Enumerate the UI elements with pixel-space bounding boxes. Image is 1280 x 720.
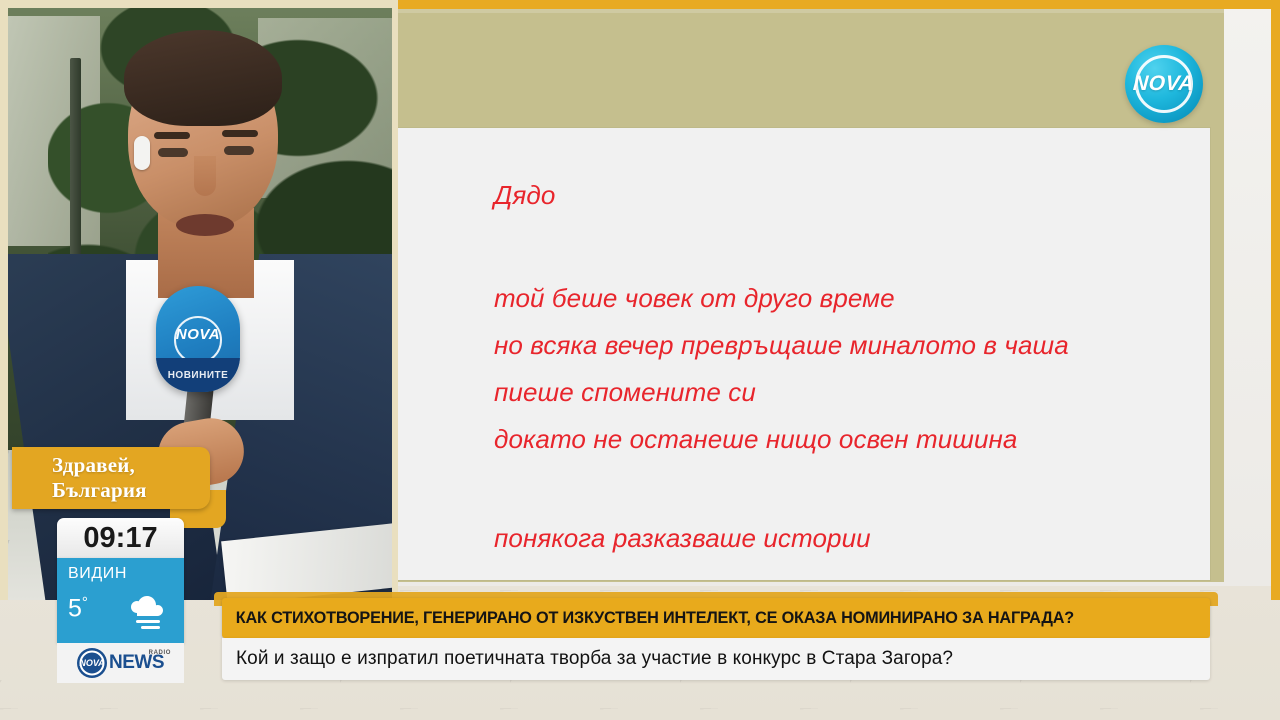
nova-logo-text: NOVA: [1133, 72, 1196, 96]
lower-third: КАК СТИХОТВОРЕНИЕ, ГЕНЕРИРАНО ОТ ИЗКУСТВ…: [214, 592, 1218, 680]
reporter-hair: [124, 30, 282, 126]
lower-third-subline: Кой и защо е изпратил поетичната творба …: [222, 638, 1210, 680]
reporter-earbud: [134, 136, 150, 170]
nova-news-nova-text: NOVA: [79, 658, 104, 668]
nova-circle-logo: NOVA: [1125, 45, 1203, 123]
nova-microphone: NOVA НОВИНИТЕ: [156, 286, 240, 392]
weather-temperature: 5°: [68, 594, 88, 623]
poem-text-block: Дядо той беше човек от друго време но вс…: [494, 172, 1190, 562]
poem-spacer-2: [494, 463, 1190, 515]
reporter-brow-right: [222, 130, 258, 137]
nova-news-circle-icon: NOVA: [77, 648, 107, 678]
broadcast-screen: Дядо той беше човек от друго време но вс…: [0, 0, 1280, 720]
khaki-panel-highlight: [398, 9, 1224, 13]
program-title-line1: Здравей,: [52, 453, 210, 478]
nova-news-radio-logo: NOVA NEWS RADIO: [57, 643, 184, 683]
weather-city-label: ВИДИН: [68, 565, 127, 583]
clock-widget: 09:17: [57, 518, 184, 558]
nova-news-radio-text: RADIO: [149, 650, 171, 656]
microphone-bottom-band: НОВИНИТЕ: [156, 358, 240, 392]
poem-line-3: пиеше спомените си: [494, 369, 1190, 416]
lower-third-subline-text: Кой и защо е изпратил поетичната творба …: [222, 648, 953, 670]
poem-line-5: понякога разказваше истории: [494, 515, 1190, 562]
reporter-eye-left: [158, 148, 188, 157]
reporter-eye-right: [224, 146, 254, 155]
lower-third-headline: КАК СТИХОТВОРЕНИЕ, ГЕНЕРИРАНО ОТ ИЗКУСТВ…: [222, 598, 1210, 638]
weather-temp-value: 5: [68, 594, 82, 622]
poem-line-2: но всяка вечер превръщаше миналото в чаш…: [494, 322, 1190, 369]
poem-spacer-1: [494, 219, 1190, 275]
lower-third-headline-text: КАК СТИХОТВОРЕНИЕ, ГЕНЕРИРАНО ОТ ИЗКУСТВ…: [222, 609, 1074, 628]
poem-line-1: той беше човек от друго време: [494, 275, 1190, 322]
program-title-line2: България: [52, 478, 210, 503]
poem-title: Дядо: [494, 172, 1190, 219]
microphone-band-text: НОВИНИТЕ: [168, 370, 229, 381]
weather-degree-symbol: °: [82, 594, 88, 611]
program-title-banner: Здравей, България: [12, 447, 210, 509]
poem-line-4: докато не останеше нищо освен тишина: [494, 416, 1190, 463]
weather-widget: ВИДИН 5°: [57, 558, 184, 643]
microphone-logo-text: NOVA: [156, 326, 240, 343]
cloud-fog-icon: [124, 592, 172, 632]
clock-time: 09:17: [83, 522, 157, 555]
poem-card: Дядо той беше човек от друго време но вс…: [398, 128, 1210, 580]
reporter-brow-left: [154, 132, 190, 139]
reporter-mouth: [176, 214, 234, 236]
reporter-nose: [194, 156, 216, 196]
